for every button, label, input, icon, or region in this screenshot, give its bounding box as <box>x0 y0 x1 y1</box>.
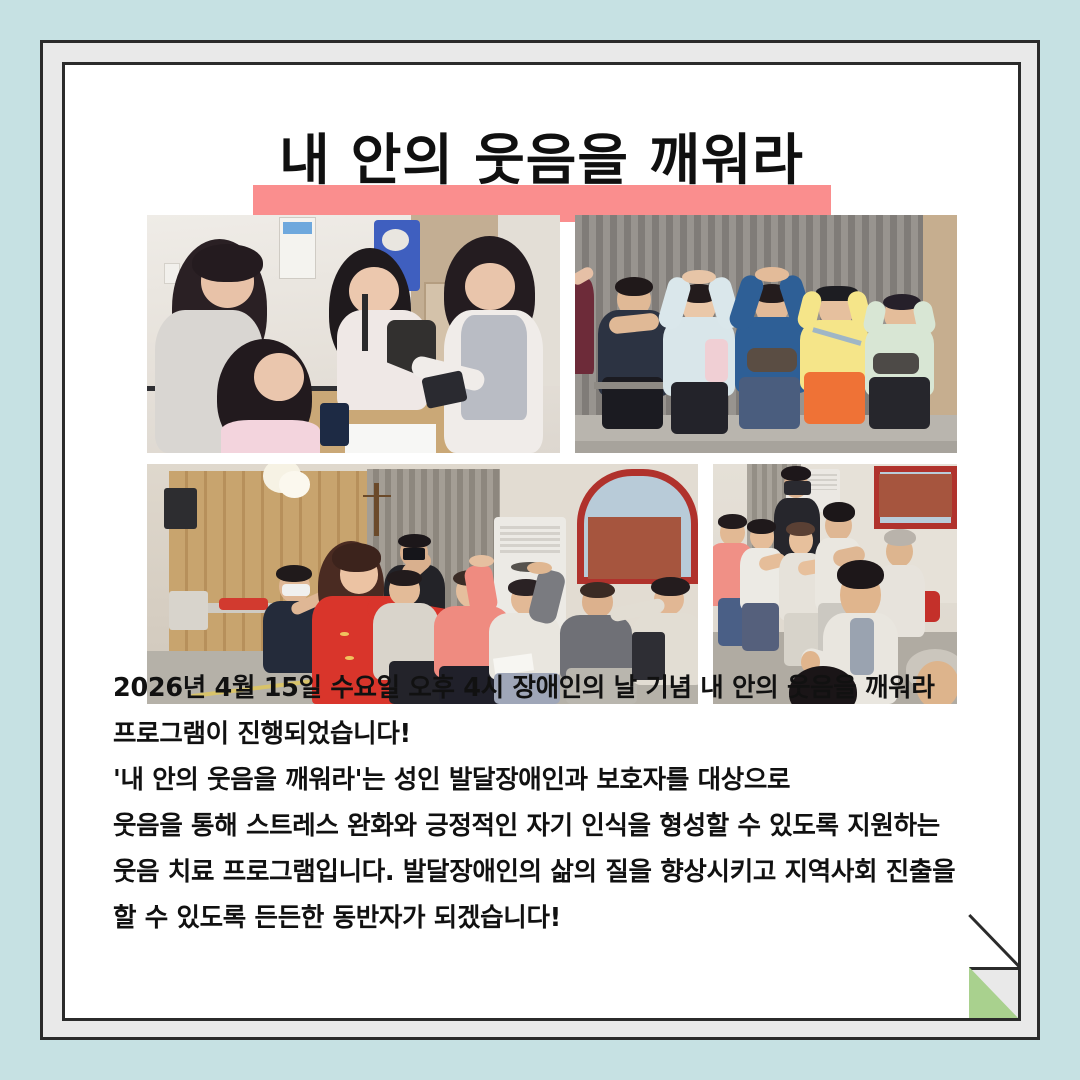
poster-frame: 내 안의 웃음을 깨워라 <box>40 40 1040 1040</box>
body-line-4: 웃음을 통해 스트레스 완화와 긍정적인 자기 인식을 형성할 수 있도록 지원… <box>113 803 983 849</box>
folded-corner-edge <box>968 914 1021 969</box>
photo-staff-meeting <box>147 215 560 453</box>
body-line-3: '내 안의 웃음을 깨워라'는 성인 발달장애인과 보호자를 대상으로 <box>113 757 983 803</box>
poster-body-text: 2026년 4월 15일 수요일 오후 4시 장애인의 날 기념 내 안의 웃음… <box>113 665 983 941</box>
photo-row-top <box>147 215 957 453</box>
poster-card: 내 안의 웃음을 깨워라 <box>62 62 1021 1021</box>
body-line-5: 웃음 치료 프로그램입니다. 발달장애인의 삶의 질을 향상시키고 지역사회 진… <box>113 849 983 895</box>
photo-staff-meeting-scene <box>147 215 560 453</box>
photo-seated-participants-scene <box>575 215 957 453</box>
body-line-2: 프로그램이 진행되었습니다! <box>113 711 983 757</box>
page-title: 내 안의 웃음을 깨워라 <box>279 133 804 188</box>
photo-seated-participants <box>575 215 957 453</box>
body-line-6: 할 수 있도록 든든한 동반자가 되겠습니다! <box>113 895 983 941</box>
photo-grid <box>147 215 957 704</box>
body-line-1: 2026년 4월 15일 수요일 오후 4시 장애인의 날 기념 내 안의 웃음… <box>113 665 983 711</box>
folded-corner-triangle <box>969 967 1019 1019</box>
